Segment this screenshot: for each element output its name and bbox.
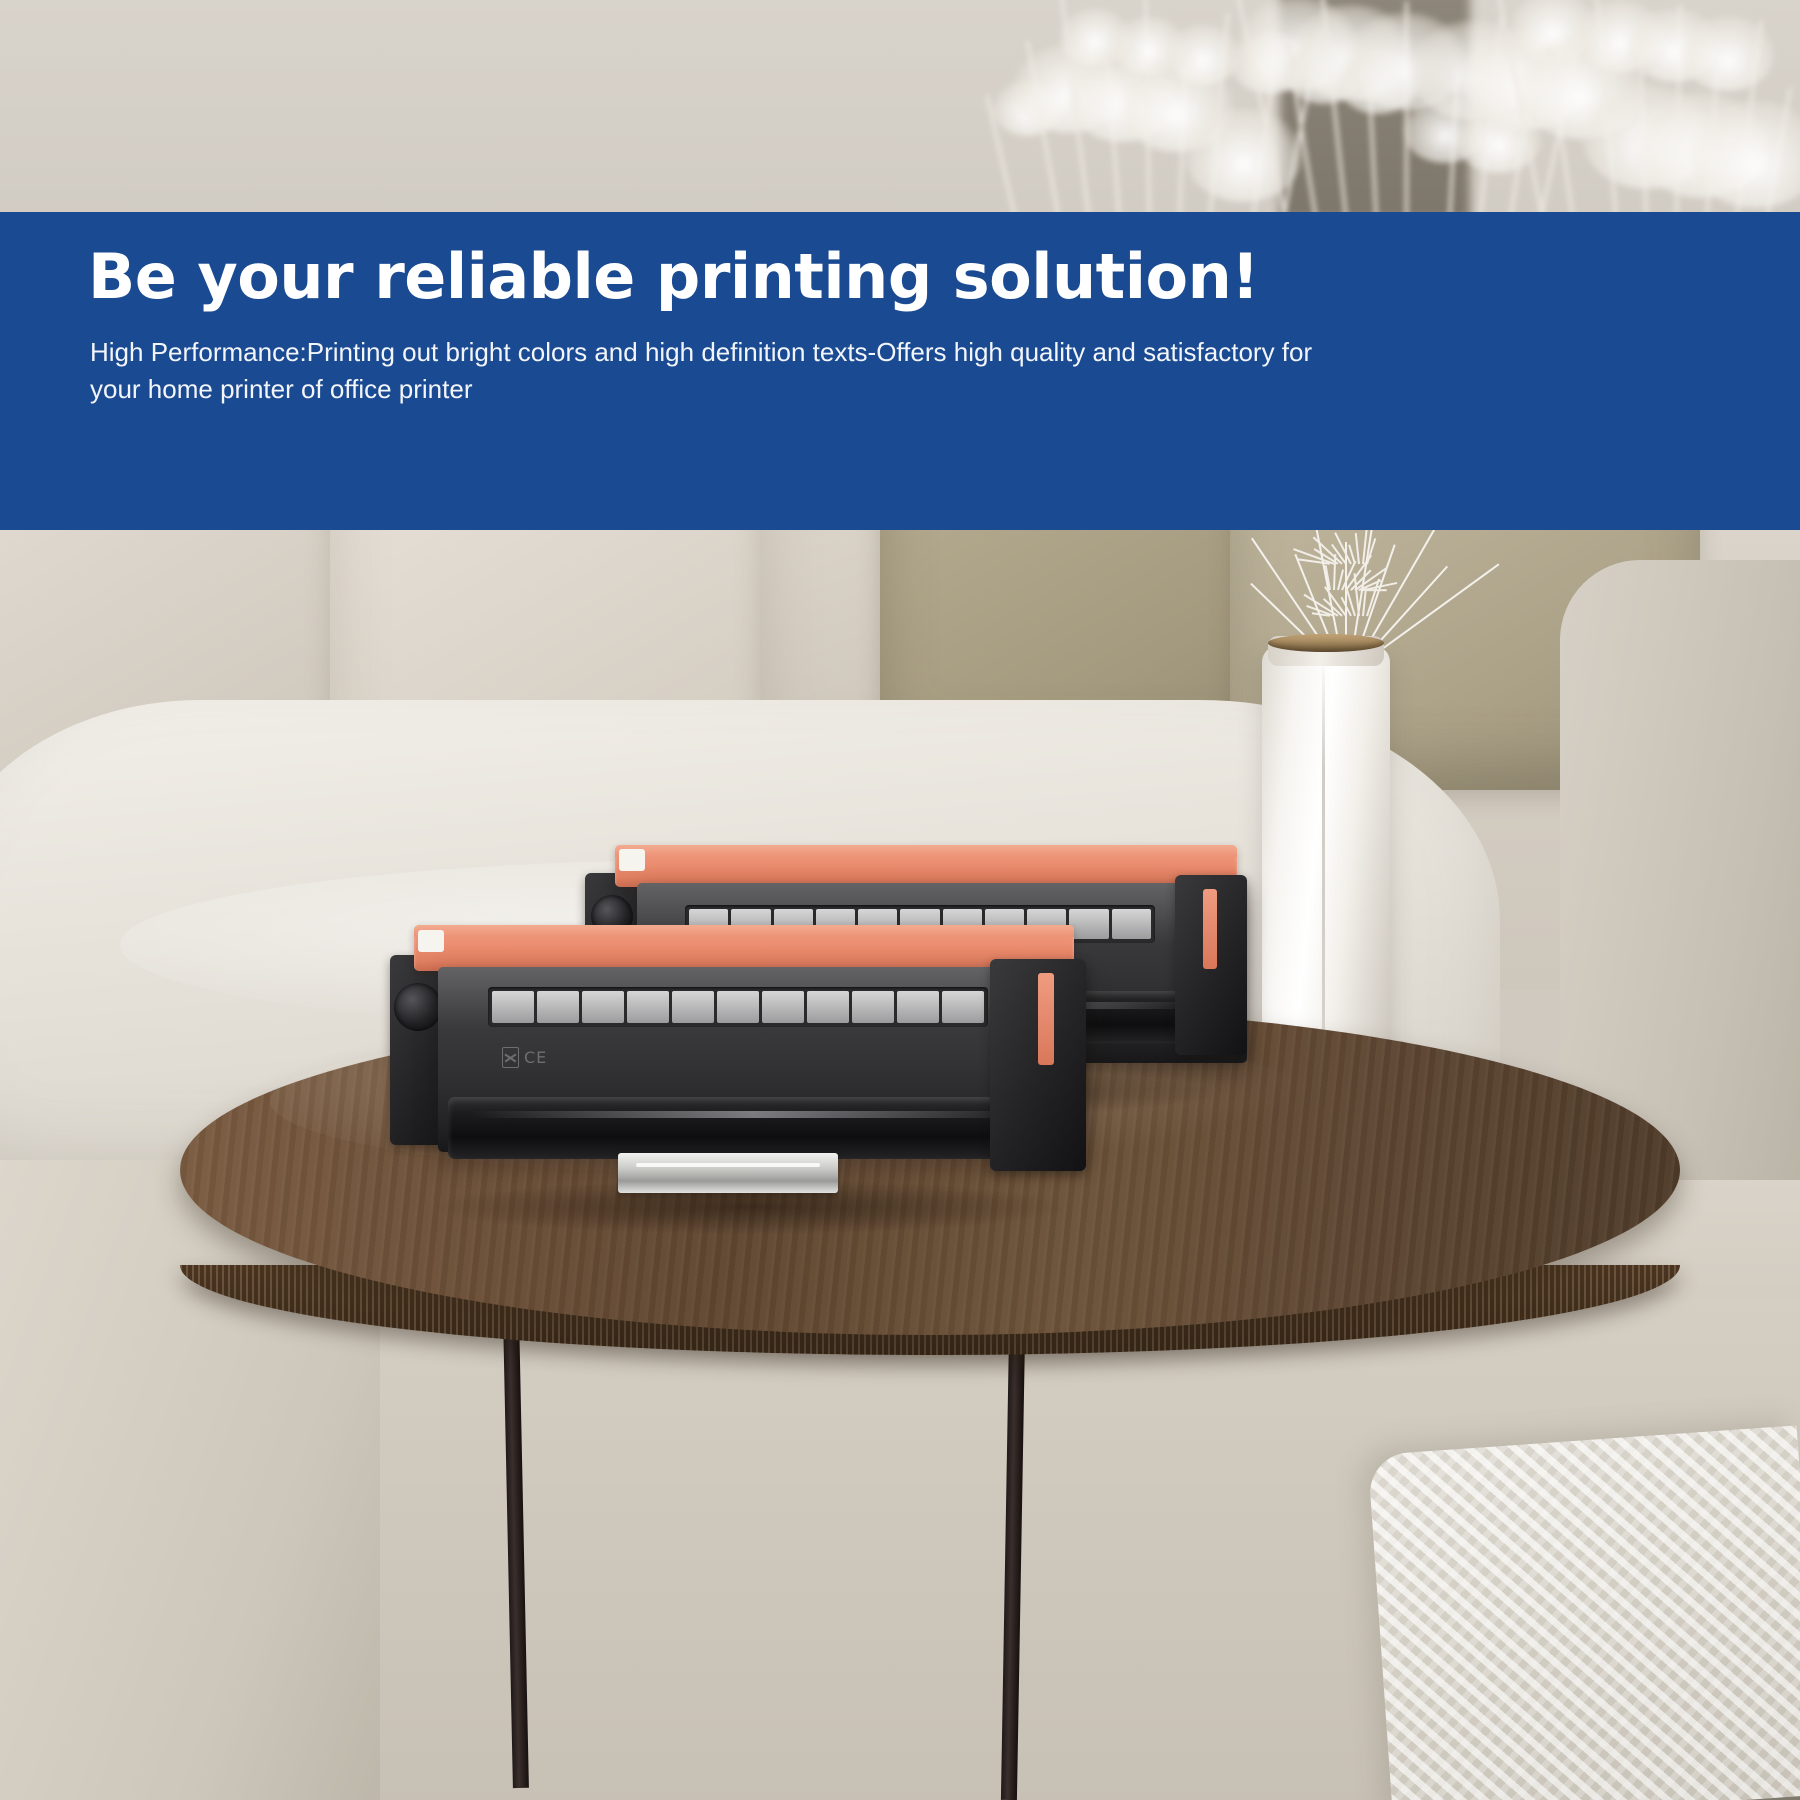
promo-banner: Be your reliable printing solution! High… [0, 212, 1800, 530]
ce-mark-icon: CE [524, 1050, 547, 1066]
toner-window-segment [672, 991, 714, 1023]
toner-window-segment [537, 991, 579, 1023]
blanket-texture [1368, 1425, 1800, 1800]
vase-rim [1268, 634, 1384, 652]
cartridge-orange-clip [1038, 973, 1054, 1065]
cartridge-handle [615, 845, 1237, 887]
toner-window-segment [942, 991, 984, 1023]
pampas-plume [1681, 16, 1775, 91]
toner-cartridge-front: CE [390, 925, 1090, 1225]
toner-window-segment [717, 991, 759, 1023]
toner-window-segment [582, 991, 624, 1023]
toner-window-segment [1112, 909, 1151, 939]
handle-highlight [414, 925, 1074, 937]
branch-twig [1354, 533, 1359, 564]
banner-headline: Be your reliable printing solution! [88, 240, 1259, 313]
handle-end-tab [619, 849, 645, 871]
cartridge-orange-clip [1203, 889, 1217, 969]
product-marketing-image: CE Be your reliable printing solution! H… [0, 0, 1800, 1800]
drum-highlight [472, 1111, 1033, 1118]
toner-window-segment [897, 991, 939, 1023]
cartridge-drum [448, 1097, 1058, 1159]
weee-icon [502, 1047, 519, 1068]
toner-window-segment [762, 991, 804, 1023]
pampas-plume [1165, 24, 1241, 85]
handle-end-tab [418, 930, 444, 952]
toner-window-segment [627, 991, 669, 1023]
cartridge-gear [394, 983, 442, 1031]
branch-twig [1367, 589, 1387, 591]
cartridge-chrome-tab [618, 1153, 838, 1193]
toner-window-segment [807, 991, 849, 1023]
handle-highlight [615, 845, 1237, 857]
toner-window-segment [852, 991, 894, 1023]
cartridge-handle [414, 925, 1074, 971]
toner-window-segment [492, 991, 534, 1023]
pampas-plume [1185, 108, 1302, 202]
knit-throw-blanket [1368, 1425, 1800, 1800]
toner-level-window [488, 987, 988, 1027]
banner-subcopy: High Performance:Printing out bright col… [90, 334, 1340, 408]
compliance-markings: CE [502, 1047, 547, 1068]
